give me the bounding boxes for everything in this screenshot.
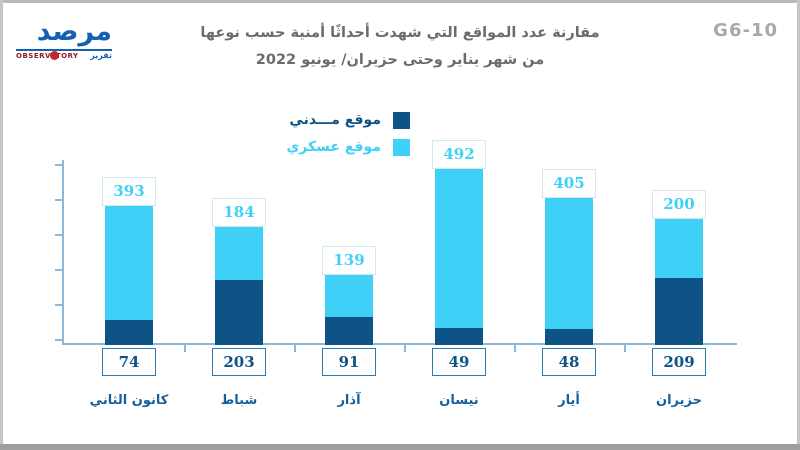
bar-value-civil: 209 xyxy=(652,348,706,376)
bar-segment-civil[interactable] xyxy=(655,278,703,345)
bar-segment-civil[interactable] xyxy=(105,320,153,345)
bar-value-military: 200 xyxy=(652,190,706,219)
chart-title: مقارنة عدد المواقع التي شهدت أحداثًا أمن… xyxy=(140,22,660,44)
x-axis xyxy=(62,343,737,345)
bar-value-civil: 203 xyxy=(212,348,266,376)
x-axis-category-label: آذار xyxy=(292,393,406,408)
bar-segment-military[interactable] xyxy=(655,219,703,278)
legend-item-civil[interactable]: موقع مـــدني xyxy=(230,108,410,132)
logo-wordmark: مرصد xyxy=(16,16,112,48)
x-axis-category-label: شباط xyxy=(182,393,296,408)
chart-code-badge: G6-10 xyxy=(713,20,778,41)
bar-value-military: 492 xyxy=(432,140,486,169)
chart-title-block: مقارنة عدد المواقع التي شهدت أحداثًا أمن… xyxy=(140,22,660,71)
y-axis-tick xyxy=(55,269,64,271)
bar-segment-civil[interactable] xyxy=(325,317,373,345)
x-axis-tick xyxy=(184,344,186,352)
y-axis xyxy=(62,160,64,345)
chart-subtitle: من شهر يناير وحتى حزيران/ يونيو 2022 xyxy=(140,49,660,71)
x-axis-tick xyxy=(294,344,296,352)
plot-area: 39374كانون الثاني184203شباط13991آذار4924… xyxy=(62,160,737,345)
bar-value-civil: 74 xyxy=(102,348,156,376)
frame-edge-top xyxy=(0,0,800,3)
frame-edge-left xyxy=(0,0,3,450)
bar-value-civil: 91 xyxy=(322,348,376,376)
x-axis-category-label: حزيران xyxy=(622,393,736,408)
bar-value-civil: 49 xyxy=(432,348,486,376)
legend-label-civil: موقع مـــدني xyxy=(289,112,381,128)
chart-legend: موقع مـــدني موقع عسكري xyxy=(230,108,410,162)
bar-segment-military[interactable] xyxy=(435,169,483,328)
legend-swatch-military-icon xyxy=(393,139,410,156)
bar-segment-military[interactable] xyxy=(325,275,373,317)
bar-value-military: 139 xyxy=(322,246,376,275)
red-dot-icon xyxy=(50,51,59,60)
y-axis-tick xyxy=(55,199,64,201)
x-axis-tick xyxy=(404,344,406,352)
bar-value-military: 393 xyxy=(102,177,156,206)
x-axis-tick xyxy=(624,344,626,352)
bar-segment-civil[interactable] xyxy=(545,329,593,345)
bar-segment-military[interactable] xyxy=(215,227,263,280)
bar-segment-civil[interactable] xyxy=(215,280,263,345)
legend-label-military: موقع عسكري xyxy=(286,139,381,155)
bar-value-military: 405 xyxy=(542,169,596,198)
logo-subtitle-en: OBSERVATORY xyxy=(16,51,76,61)
y-axis-tick xyxy=(55,339,64,341)
bar-segment-military[interactable] xyxy=(105,206,153,320)
bar-segment-civil[interactable] xyxy=(435,328,483,345)
x-axis-category-label: نيسان xyxy=(402,393,516,408)
x-axis-category-label: كانون الثاني xyxy=(72,393,186,408)
bar-segment-military[interactable] xyxy=(545,198,593,329)
y-axis-tick xyxy=(55,164,64,166)
y-axis-tick xyxy=(55,304,64,306)
bar-value-civil: 48 xyxy=(542,348,596,376)
x-axis-tick xyxy=(514,344,516,352)
frame-edge-bottom xyxy=(0,444,800,450)
logo-subtitle-ar: تقرير xyxy=(80,50,112,62)
y-axis-tick xyxy=(55,234,64,236)
bar-value-military: 184 xyxy=(212,198,266,227)
marsad-logo: مرصد OBSERVATORY تقرير xyxy=(16,16,112,62)
legend-swatch-civil-icon xyxy=(393,112,410,129)
legend-item-military[interactable]: موقع عسكري xyxy=(230,135,410,159)
x-axis-category-label: أيار xyxy=(512,393,626,408)
chart-canvas: مرصد OBSERVATORY تقرير مقارنة عدد المواق… xyxy=(0,0,800,450)
